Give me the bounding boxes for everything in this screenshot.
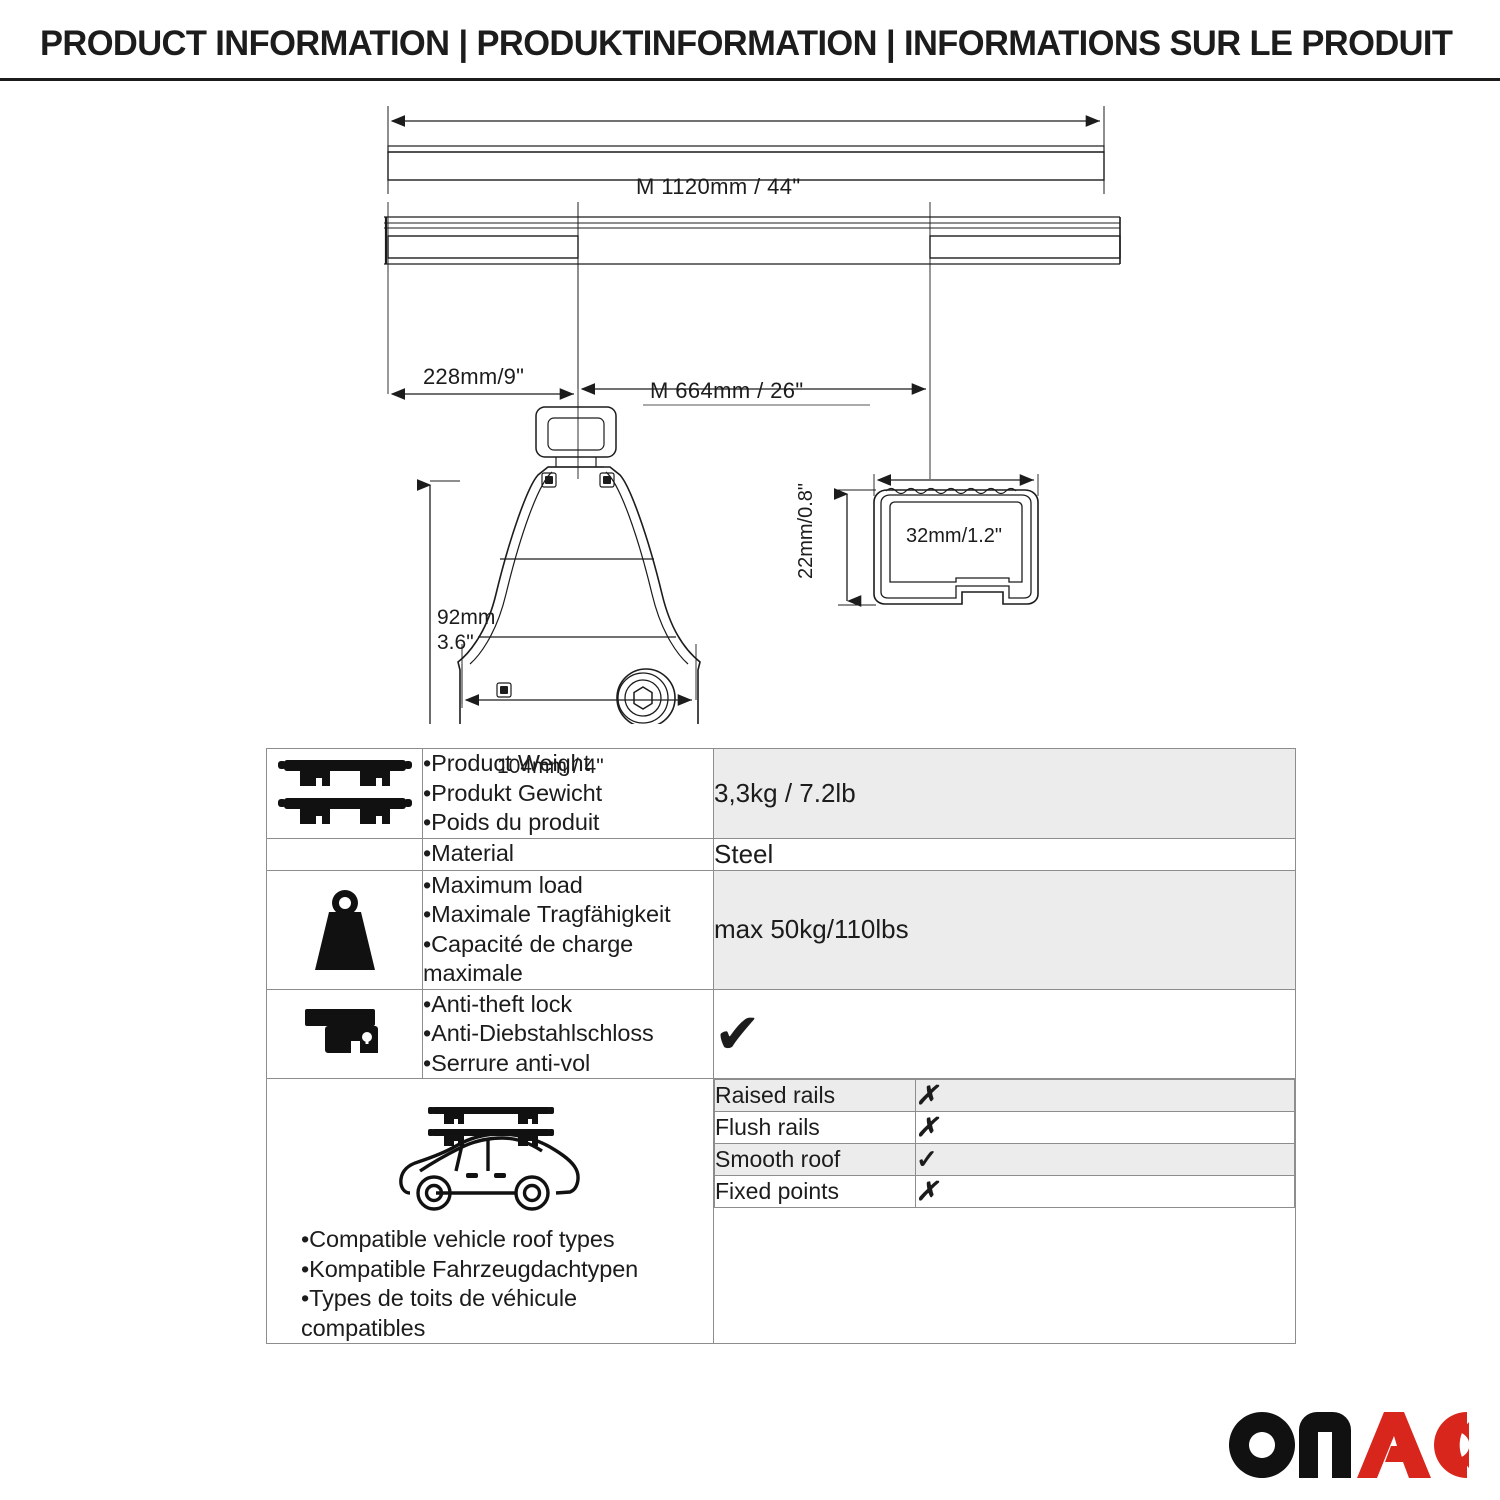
lock-icon xyxy=(295,997,395,1071)
roof-type-name: Raised rails xyxy=(715,1080,916,1112)
bar-bottom-view xyxy=(384,217,1120,264)
roof-type-matrix-cell: Raised rails ✗ Flush rails ✗ Smooth roof… xyxy=(714,1079,1296,1344)
dimension-foot-height-line2: 3.6" xyxy=(437,630,495,655)
omac-logo xyxy=(1229,1412,1469,1478)
vehicle-roof-type-labels: •Compatible vehicle roof types •Kompatib… xyxy=(267,1219,713,1343)
crossbars-icon xyxy=(270,754,420,832)
anti-theft-value: ✔ xyxy=(714,989,1296,1079)
logo-letter-c-body xyxy=(1434,1412,1467,1478)
car-with-roofrack-icon xyxy=(390,1101,590,1219)
roof-type-matrix: Raised rails ✗ Flush rails ✗ Smooth roof… xyxy=(714,1079,1295,1208)
roof-type-name: Flush rails xyxy=(715,1112,916,1144)
material-labels: •Material xyxy=(423,838,714,870)
label-line: •Anti-Diebstahlschloss xyxy=(423,1019,713,1049)
label-line: •Capacité de charge maximale xyxy=(423,930,713,989)
label-line: •Maximum load xyxy=(423,871,713,901)
roof-type-row: Raised rails ✗ xyxy=(715,1080,1295,1112)
logo-letter-m xyxy=(1299,1412,1351,1478)
label-line: •Produkt Gewicht xyxy=(423,779,713,809)
roof-type-row: Flush rails ✗ xyxy=(715,1112,1295,1144)
roof-type-row: Fixed points ✗ xyxy=(715,1176,1295,1208)
label-line: •Poids du produit xyxy=(423,808,713,838)
technical-drawing: M 1120mm / 44" 228mm/9" M 664mm / 26" 92… xyxy=(0,84,1500,724)
logo-letter-o xyxy=(1229,1412,1295,1478)
vehicle-roof-types-cell: •Compatible vehicle roof types •Kompatib… xyxy=(267,1079,714,1344)
lock-icon-cell xyxy=(267,989,423,1079)
product-spec-table: •Product Weight •Produkt Gewicht •Poids … xyxy=(266,748,1296,1344)
header-divider xyxy=(0,78,1500,81)
label-line: •Types de toits de véhicule xyxy=(301,1284,703,1314)
dimension-overhang-label: 228mm/9" xyxy=(423,364,524,390)
logo-letter-a xyxy=(1357,1412,1431,1478)
roof-type-mark: ✗ xyxy=(916,1112,1295,1144)
roof-type-name: Fixed points xyxy=(715,1176,916,1208)
table-row: •Material Steel xyxy=(267,838,1296,870)
product-information-page: PRODUCT INFORMATION | PRODUKTINFORMATION… xyxy=(0,0,1500,1500)
dimension-total-length-label: M 1120mm / 44" xyxy=(636,174,801,200)
dimension-profile-width-label: 32mm/1.2" xyxy=(906,525,1002,548)
material-value: Steel xyxy=(714,838,1296,870)
material-icon-cell xyxy=(267,838,423,870)
page-title: PRODUCT INFORMATION | PRODUKTINFORMATION… xyxy=(40,24,1439,64)
roof-type-name: Smooth roof xyxy=(715,1144,916,1176)
dimension-foot-height-label: 92mm 3.6" xyxy=(437,605,495,655)
roof-type-mark: ✗ xyxy=(916,1176,1295,1208)
table-row-vehicle: •Compatible vehicle roof types •Kompatib… xyxy=(267,1079,1296,1344)
label-line: compatibles xyxy=(301,1314,703,1344)
dim-line-profile-height xyxy=(838,490,876,605)
label-line: •Product Weight xyxy=(423,749,713,779)
label-line: •Anti-theft lock xyxy=(423,990,713,1020)
product-weight-labels: •Product Weight •Produkt Gewicht •Poids … xyxy=(423,749,714,839)
dimension-foot-spread-label: M 664mm / 26" xyxy=(650,378,804,404)
table-row: •Maximum load •Maximale Tragfähigkeit •C… xyxy=(267,870,1296,989)
label-line: •Kompatible Fahrzeugdachtypen xyxy=(301,1255,703,1285)
dim-line-foot-height xyxy=(430,481,462,724)
label-line: •Maximale Tragfähigkeit xyxy=(423,900,713,930)
dimension-foot-height-line1: 92mm xyxy=(437,605,495,630)
anti-theft-labels: •Anti-theft lock •Anti-Diebstahlschloss … xyxy=(423,989,714,1079)
roof-type-row: Smooth roof ✓ xyxy=(715,1144,1295,1176)
foot-front-view xyxy=(458,407,700,724)
product-weight-value: 3,3kg / 7.2lb xyxy=(714,749,1296,839)
table-row: •Anti-theft lock •Anti-Diebstahlschloss … xyxy=(267,989,1296,1079)
label-line: •Compatible vehicle roof types xyxy=(301,1225,703,1255)
car-icon-wrap xyxy=(267,1079,713,1219)
omac-logo-mark xyxy=(1229,1412,1469,1478)
crossbars-icon-cell xyxy=(267,749,423,839)
max-load-labels: •Maximum load •Maximale Tragfähigkeit •C… xyxy=(423,870,714,989)
roof-type-mark: ✓ xyxy=(916,1144,1295,1176)
roof-type-mark: ✗ xyxy=(916,1080,1295,1112)
label-line: •Material xyxy=(423,839,713,869)
max-load-value: max 50kg/110lbs xyxy=(714,870,1296,989)
label-line: •Serrure anti-vol xyxy=(423,1049,713,1079)
weight-icon xyxy=(303,886,387,974)
table-row: •Product Weight •Produkt Gewicht •Poids … xyxy=(267,749,1296,839)
weight-icon-cell xyxy=(267,870,423,989)
dimension-profile-height-label: 22mm/0.8" xyxy=(795,483,818,579)
